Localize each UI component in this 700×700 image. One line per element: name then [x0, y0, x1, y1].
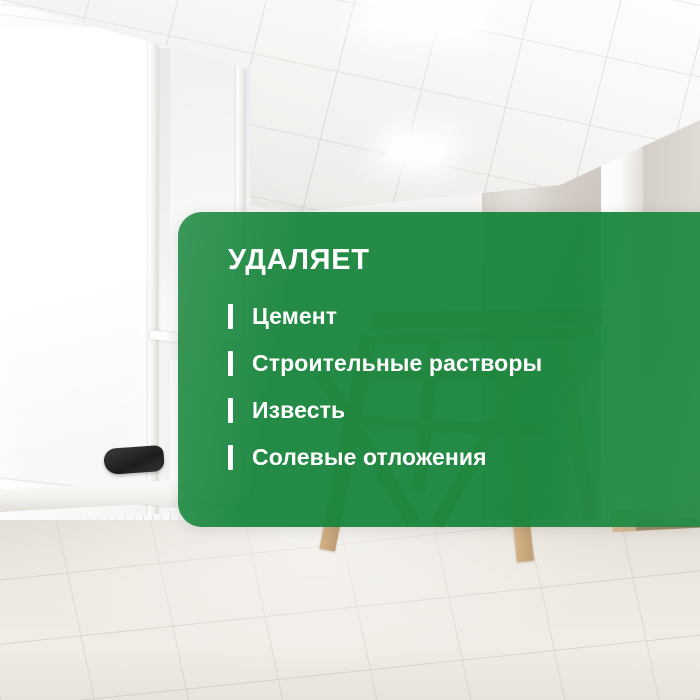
bullet-bar-icon [228, 398, 233, 423]
bullet-bar-icon [228, 304, 233, 329]
black-bag [103, 445, 165, 475]
bullet-bar-icon [228, 445, 233, 470]
removes-list: Цемент Строительные растворы Известь Сол… [228, 304, 682, 470]
list-item-label: Строительные растворы [252, 351, 542, 375]
page-title: УДАЛЯЕТ [228, 246, 682, 275]
window-frame [148, 0, 158, 520]
list-item: Известь [228, 398, 682, 423]
list-item-label: Цемент [252, 304, 337, 328]
list-item: Цемент [228, 304, 682, 329]
list-item: Строительные растворы [228, 351, 682, 376]
list-item: Солевые отложения [228, 445, 682, 470]
list-item-label: Солевые отложения [252, 445, 487, 469]
promo-banner: УДАЛЯЕТ Цемент Строительные растворы Изв… [0, 0, 700, 700]
green-overlay-panel: УДАЛЯЕТ Цемент Строительные растворы Изв… [178, 212, 700, 527]
list-item-label: Известь [252, 398, 345, 422]
bullet-bar-icon [228, 351, 233, 376]
panel-content: УДАЛЯЕТ Цемент Строительные растворы Изв… [228, 246, 682, 470]
window-pane [0, 28, 150, 498]
